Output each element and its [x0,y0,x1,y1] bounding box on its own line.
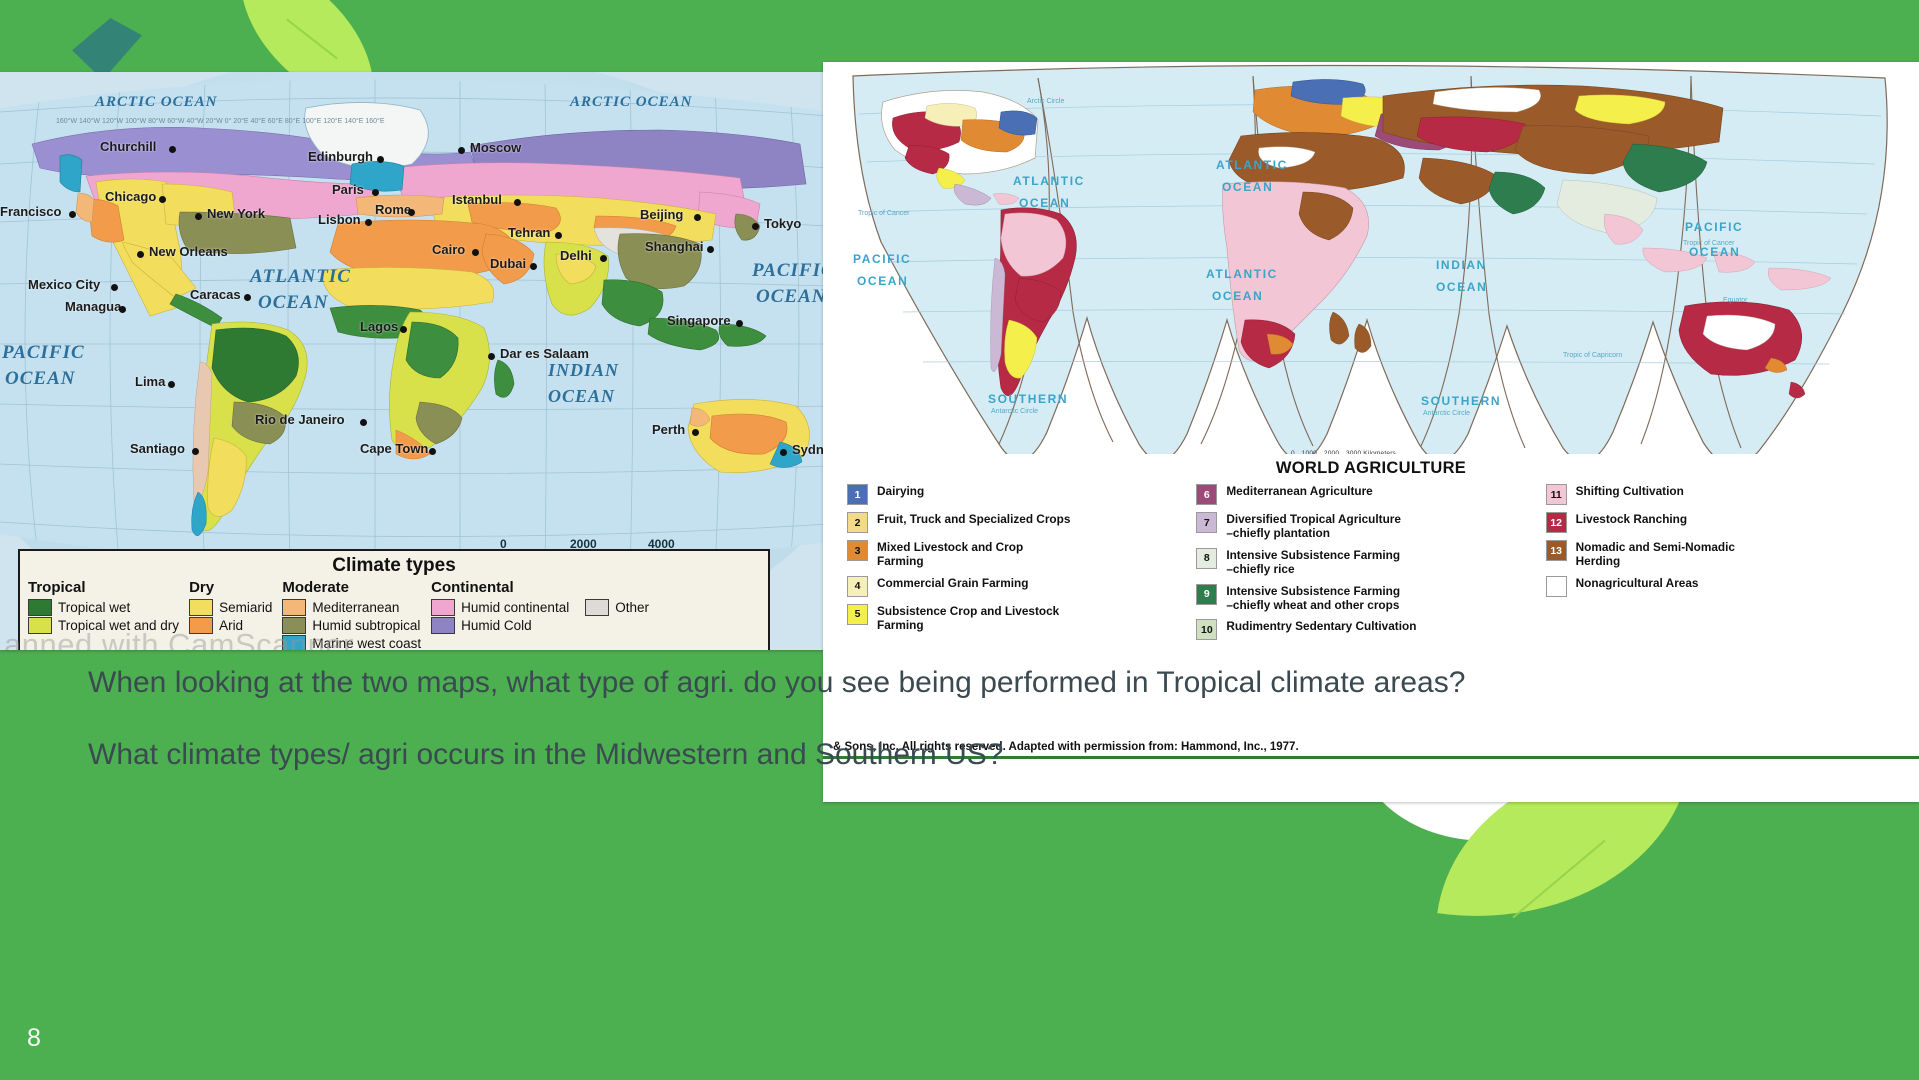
city-label-rio-de-janeiro: Rio de Janeiro [255,412,345,427]
agri-ocean-label-ocean: OCEAN [1222,180,1273,194]
agri-ocean-label-ocean: OCEAN [1212,289,1263,303]
ocean-label-arctic-east: ARCTIC OCEAN [570,94,692,111]
climate-legend-item: Arid [189,617,272,634]
agriculture-legend-column-3: 11Shifting Cultivation12Livestock Ranchi… [1546,484,1895,647]
city-label-beijing: Beijing [640,207,683,222]
agri-annotation-antarctic-circle: Antarctic Circle [1423,410,1470,417]
leaf-vein-top-left-icon [286,19,338,60]
lon-tick-160w: 160°W 140°W 120°W 100°W 80°W 60°W 40°W 2… [56,118,385,125]
agriculture-legend-label: Nomadic and Semi-Nomadic Herding [1576,540,1735,569]
agriculture-legend-item: 7Diversified Tropical Agriculture –chief… [1196,512,1537,541]
agriculture-legend-item: 6Mediterranean Agriculture [1196,484,1537,505]
agriculture-legend-item: 10Rudimentry Sedentary Cultivation [1196,619,1537,640]
agriculture-legend-columns: 1Dairying2Fruit, Truck and Specialized C… [823,478,1919,647]
city-label-tokyo: Tokyo [764,216,801,231]
city-label-mexico-city: Mexico City [28,277,100,292]
climate-legend-item: Marine west coast [282,635,421,650]
climate-legend-label: Humid continental [461,600,569,615]
city-label-managua: Managua [65,299,121,314]
agriculture-legend-column-1: 1Dairying2Fruit, Truck and Specialized C… [847,484,1196,647]
city-label-cape-town: Cape Town [360,441,428,456]
agriculture-legend-label: Diversified Tropical Agriculture –chiefl… [1226,512,1401,541]
city-dot-dubai [530,263,537,270]
agri-ocean-label-pacific: PACIFIC [1685,220,1743,234]
agriculture-legend-item: 12Livestock Ranching [1546,512,1887,533]
city-dot-moscow [458,147,465,154]
city-label-istanbul: Istanbul [452,192,502,207]
climate-swatch-icon [585,599,609,616]
city-dot-istanbul [514,199,521,206]
agri-annotation-equator: Equator [1723,297,1748,304]
agriculture-legend-label: Intensive Subsistence Farming –chiefly r… [1226,548,1400,577]
agri-annotation-antarctic-circle: Antarctic Circle [991,408,1038,415]
city-label-dar-es-salaam: Dar es Salaam [500,346,589,361]
agriculture-legend-label: Rudimentry Sedentary Cultivation [1226,619,1416,633]
city-dot-perth [692,429,699,436]
climate-swatch-icon [431,599,455,616]
city-label-tehran: Tehran [508,225,550,240]
ocean-label-indian: INDIAN [548,360,619,381]
city-label-lima: Lima [135,374,165,389]
climate-legend-heading: Continental [431,579,569,597]
climate-legend-item: Mediterranean [282,599,421,616]
agriculture-swatch-icon: 5 [847,604,868,625]
climate-legend-label: Semiarid [219,600,272,615]
ocean-label-atlantic-line2: OCEAN [258,292,328,314]
city-dot-sydney [780,449,787,456]
climate-legend-item: Humid subtropical [282,617,421,634]
agri-ocean-label-ocean: OCEAN [1436,280,1487,294]
agriculture-swatch-icon: 2 [847,512,868,533]
climate-swatch-icon [189,617,213,634]
ocean-label-pacific-west-line2: OCEAN [5,368,75,390]
climate-swatch-icon [189,599,213,616]
ocean-label-pacific-west: PACIFIC [2,342,85,364]
climate-legend-item: Other [585,599,649,616]
agri-ocean-label-southern: SOUTHERN [1421,394,1501,408]
agriculture-swatch-icon: 9 [1196,584,1217,605]
agriculture-legend-item: 8Intensive Subsistence Farming –chiefly … [1196,548,1537,577]
city-label-lisbon: Lisbon [318,212,361,227]
climate-legend-item: Semiarid [189,599,272,616]
climate-swatch-icon [28,599,52,616]
city-dot-cairo [472,249,479,256]
city-label-santiago: Santiago [130,441,185,456]
agriculture-swatch-icon: 10 [1196,619,1217,640]
agriculture-legend-label: Commercial Grain Farming [877,576,1028,590]
agriculture-legend-item: 5Subsistence Crop and Livestock Farming [847,604,1188,633]
climate-swatch-icon [282,599,306,616]
agriculture-legend-column-2: 6Mediterranean Agriculture7Diversified T… [1196,484,1545,647]
agri-annotation-arctic-circle: Arctic Circle [1027,98,1064,105]
agriculture-legend-label: Dairying [877,484,924,498]
agriculture-legend-label: Subsistence Crop and Livestock Farming [877,604,1059,633]
agriculture-swatch-icon: 1 [847,484,868,505]
climate-legend-group-other: Other [585,579,649,650]
city-dot-tokyo [752,223,759,230]
agri-ocean-label-southern: SOUTHERN [988,392,1068,406]
city-dot-churchill [169,146,176,153]
climate-legend-label: Arid [219,618,243,633]
climate-legend-heading: Moderate [282,579,421,597]
climate-map-image: 160°W 140°W 120°W 100°W 80°W 60°W 40°W 2… [0,72,828,650]
agriculture-swatch-icon: 7 [1196,512,1217,533]
climate-swatch-icon [431,617,455,634]
agri-annotation-tropic-of-cancer: Tropic of Cancer [858,210,909,217]
agriculture-legend-item: 11Shifting Cultivation [1546,484,1887,505]
agri-ocean-label-atlantic: ATLANTIC [1216,158,1288,172]
ocean-label-pacific-east: PACIFIC [752,260,828,282]
agriculture-swatch-icon: 3 [847,540,868,561]
agri-ocean-label-ocean: OCEAN [857,274,908,288]
city-label-dubai: Dubai [490,256,526,271]
climate-legend-group-continental: ContinentalHumid continentalHumid Cold [431,579,569,650]
climate-legend-label: Humid Cold [461,618,532,633]
climate-swatch-icon [282,635,306,650]
agri-ocean-label-ocean: OCEAN [1689,245,1740,259]
page-number: 8 [27,1026,41,1051]
city-label-cairo: Cairo [432,242,465,257]
agriculture-swatch-icon: 11 [1546,484,1567,505]
goode-projection-vector [823,62,1919,502]
city-dot-singapore [736,320,743,327]
city-label-rome: Rome [375,202,411,217]
city-label-chicago: Chicago [105,189,156,204]
climate-legend-label: Tropical wet and dry [58,618,179,633]
climate-legend-group-tropical: TropicalTropical wetTropical wet and dry [28,579,179,650]
city-dot-rio-de-janeiro [360,419,367,426]
agri-ocean-label-atlantic: ATLANTIC [1206,267,1278,281]
city-label-shanghai: Shanghai [645,239,704,254]
agri-ocean-label-pacific: PACIFIC [853,252,911,266]
agriculture-swatch-icon [1546,576,1567,597]
climate-legend-title: Climate types [20,555,768,577]
climate-legend-heading [585,579,649,597]
city-dot-lagos [400,326,407,333]
agriculture-legend-item: 2Fruit, Truck and Specialized Crops [847,512,1188,533]
city-label-edinburgh: Edinburgh [308,149,373,164]
agriculture-legend-item: 13Nomadic and Semi-Nomadic Herding [1546,540,1887,569]
agri-annotation-tropic-of-cancer: Tropic of Cancer [1683,240,1734,247]
city-label-churchill: Churchill [100,139,156,154]
city-dot-edinburgh [377,156,384,163]
agri-ocean-label-ocean: OCEAN [1019,196,1070,210]
agriculture-legend-label: Intensive Subsistence Farming –chiefly w… [1226,584,1400,613]
climate-legend-group-dry: DrySemiaridArid [189,579,272,650]
climate-legend-label: Humid subtropical [312,618,420,633]
question-2: What climate types/ agri occurs in the M… [88,732,1488,778]
agriculture-swatch-icon: 13 [1546,540,1567,561]
climate-legend-heading: Tropical [28,579,179,597]
ocean-label-arctic-west: ARCTIC OCEAN [95,94,217,111]
city-dot-paris [372,189,379,196]
climate-legend-item: Humid Cold [431,617,569,634]
city-label-new-orleans: New Orleans [149,244,228,259]
climate-legend-label: Marine west coast [312,636,421,650]
agri-ocean-label-indian: INDIAN [1436,258,1487,272]
city-label-caracas: Caracas [190,287,241,302]
city-dot-rome [408,209,415,216]
agri-ocean-label-atlantic: ATLANTIC [1013,174,1085,188]
city-dot-santiago [192,448,199,455]
ocean-label-pacific-east-line2: OCEAN [756,286,826,308]
agriculture-legend-label: Mediterranean Agriculture [1226,484,1372,498]
climate-legend-item: Humid continental [431,599,569,616]
city-label-lagos: Lagos [360,319,398,334]
leaf-decoration-top-left-dark [72,18,142,80]
leaf-vein-bottom-right-icon [1512,840,1605,919]
agriculture-swatch-icon: 12 [1546,512,1567,533]
climate-legend-label: Mediterranean [312,600,399,615]
agriculture-legend-item: 9Intensive Subsistence Farming –chiefly … [1196,584,1537,613]
agriculture-legend-label: Livestock Ranching [1576,512,1687,526]
agriculture-legend-item: Nonagricultural Areas [1546,576,1887,597]
climate-legend-item: Tropical wet and dry [28,617,179,634]
city-dot-new-york [195,213,202,220]
climate-legend-heading: Dry [189,579,272,597]
agriculture-legend-label: Mixed Livestock and Crop Farming [877,540,1023,569]
climate-legend-label: Other [615,600,649,615]
city-dot-delhi [600,255,607,262]
slide-canvas: 160°W 140°W 120°W 100°W 80°W 60°W 40°W 2… [0,0,1919,1080]
city-dot-dar-es-salaam [488,353,495,360]
agriculture-legend-label: Fruit, Truck and Specialized Crops [877,512,1070,526]
city-label-new-york: New York [207,206,265,221]
city-dot-new-orleans [137,251,144,258]
ocean-label-indian-line2: OCEAN [548,386,615,407]
climate-legend-group-moderate: ModerateMediterraneanHumid subtropicalMa… [282,579,421,650]
agriculture-legend-label: Shifting Cultivation [1576,484,1684,498]
question-block: When looking at the two maps, what type … [88,660,1488,777]
city-label-moscow: Moscow [470,140,521,155]
city-label-singapore: Singapore [667,313,731,328]
climate-legend: Climate types TropicalTropical wetTropic… [18,549,770,650]
city-dot-shanghai [707,246,714,253]
agriculture-swatch-icon: 8 [1196,548,1217,569]
city-label-francisco: Francisco [0,204,61,219]
agriculture-legend-item: 4Commercial Grain Farming [847,576,1188,597]
climate-swatch-icon [282,617,306,634]
city-dot-francisco [69,211,76,218]
ocean-label-atlantic: ATLANTIC [250,266,351,288]
climate-swatch-icon [28,617,52,634]
agriculture-legend-item: 1Dairying [847,484,1188,505]
climate-legend-columns: TropicalTropical wetTropical wet and dry… [20,579,768,650]
city-label-perth: Perth [652,422,685,437]
city-label-delhi: Delhi [560,248,592,263]
agriculture-legend-item: 3Mixed Livestock and Crop Farming [847,540,1188,569]
agriculture-swatch-icon: 6 [1196,484,1217,505]
climate-legend-label: Tropical wet [58,600,130,615]
agriculture-swatch-icon: 4 [847,576,868,597]
agriculture-legend-label: Nonagricultural Areas [1576,576,1699,590]
climate-legend-item: Tropical wet [28,599,179,616]
agriculture-legend-title: WORLD AGRICULTURE [823,459,1919,478]
city-dot-lima [168,381,175,388]
city-label-paris: Paris [332,182,364,197]
question-1: When looking at the two maps, what type … [88,660,1488,706]
agri-annotation-tropic-of-capricorn: Tropic of Capricorn [1563,352,1622,359]
city-dot-cape-town [429,448,436,455]
